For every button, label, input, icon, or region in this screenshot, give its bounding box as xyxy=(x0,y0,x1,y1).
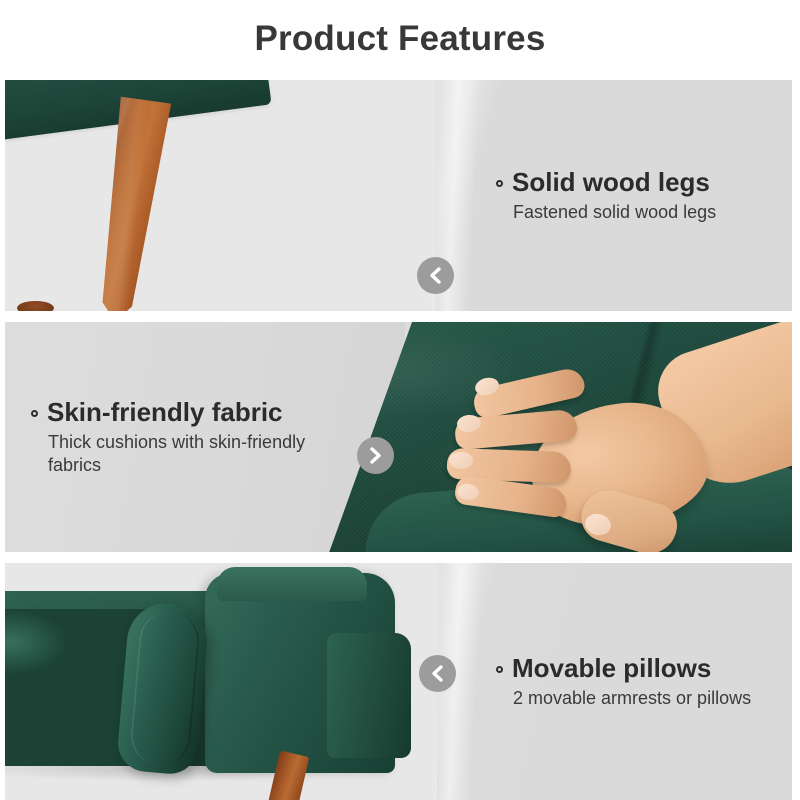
chevron-right-badge[interactable] xyxy=(357,437,394,474)
sofa-armrest-shape xyxy=(327,633,411,758)
feature-description: Fastened solid wood legs xyxy=(496,201,792,224)
feature-description: 2 movable armrests or pillows xyxy=(496,687,763,710)
feature-panel-skin-friendly-fabric: Skin-friendly fabric Thick cushions with… xyxy=(5,322,792,552)
page-header: Product Features xyxy=(0,0,800,76)
chevron-right-icon xyxy=(368,446,383,465)
chevron-left-badge[interactable] xyxy=(417,257,454,294)
page-title: Product Features xyxy=(254,21,545,56)
bolster-pillow-shape xyxy=(116,600,211,776)
feature-description: Thick cushions with skin-friendly fabric… xyxy=(31,431,360,476)
feature-image-sofa-side-view xyxy=(5,563,460,800)
feature-text-block-movable-pillows: Movable pillows 2 movable armrests or pi… xyxy=(437,563,792,800)
feature-title: Movable pillows xyxy=(512,654,711,683)
feature-text-block-solid-wood-legs: Solid wood legs Fastened solid wood legs xyxy=(435,80,792,311)
chevron-left-icon xyxy=(430,664,445,683)
ring-bullet-icon xyxy=(31,410,38,417)
product-features-infographic: Product Features Solid wood legs Fastene… xyxy=(0,0,800,800)
hand-shape xyxy=(433,356,763,546)
feature-panel-solid-wood-legs: Solid wood legs Fastened solid wood legs xyxy=(5,80,792,311)
feature-title: Solid wood legs xyxy=(512,168,710,197)
wood-grain-texture xyxy=(85,96,176,311)
feature-heading-row: Movable pillows xyxy=(496,654,792,683)
wooden-leg-tip xyxy=(17,301,54,311)
chevron-left-icon xyxy=(428,266,443,285)
ring-bullet-icon xyxy=(496,666,503,673)
sofa-back-top-edge xyxy=(217,567,367,601)
feature-heading-row: Skin-friendly fabric xyxy=(31,398,405,427)
feature-heading-row: Solid wood legs xyxy=(496,168,792,197)
feature-panel-movable-pillows: Movable pillows 2 movable armrests or pi… xyxy=(5,563,792,800)
ring-bullet-icon xyxy=(496,180,503,187)
feature-image-wooden-leg xyxy=(5,80,457,311)
feature-title: Skin-friendly fabric xyxy=(47,398,283,427)
bolster-seam xyxy=(128,609,201,768)
chevron-left-badge[interactable] xyxy=(419,655,456,692)
wooden-leg-shape xyxy=(85,96,176,311)
